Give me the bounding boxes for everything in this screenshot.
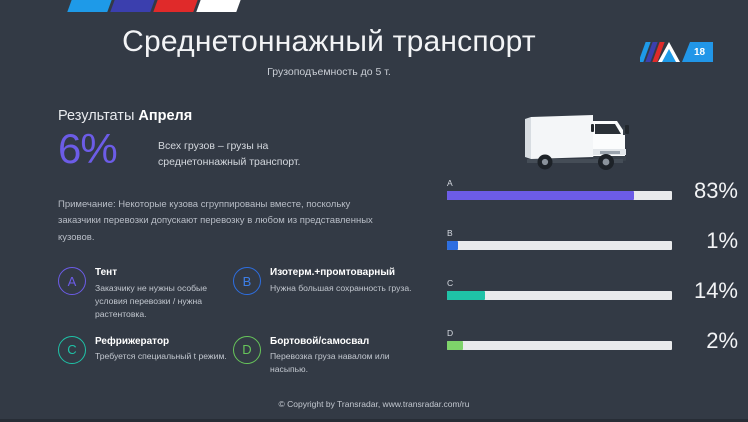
bar-row-c: C 14% xyxy=(447,278,705,328)
legend-text-b: Изотерм.+промтоварный Нужна большая сохр… xyxy=(270,266,412,294)
results-heading: Результаты Апреля xyxy=(58,108,418,124)
bar-row-a: A 83% xyxy=(447,178,705,228)
legend-desc-c: Требуется специальный t режим. xyxy=(95,350,227,363)
slide-canvas: Среднетоннажный транспорт Грузоподъемнос… xyxy=(0,0,748,422)
legend-title-d: Бортовой/самосвал xyxy=(270,336,415,349)
bar-fill-a xyxy=(447,191,634,200)
corner-logo-stripe-3 xyxy=(153,0,202,12)
left-panel: Результаты Апреля 6% Всех грузов – грузы… xyxy=(58,108,418,376)
legend-title-c: Рефрижератор xyxy=(95,336,227,349)
legend-grid: A Тент Заказчику не нужны особые условия… xyxy=(58,266,418,375)
bar-label-d: D xyxy=(447,328,705,338)
bar-track-a: 83% xyxy=(447,191,672,200)
badge-a-mark-icon xyxy=(658,42,680,62)
legend-desc-d: Перевозка груза навалом или насыпью. xyxy=(270,350,415,376)
truck-photo xyxy=(505,105,680,177)
legend-item-a[interactable]: A Тент Заказчику не нужны особые условия… xyxy=(58,266,233,320)
page-subtitle: Грузоподъемность до 5 т. xyxy=(0,66,748,78)
note-text: Примечание: Некоторые кузова сгруппирова… xyxy=(58,197,378,247)
legend-text-c: Рефрижератор Требуется специальный t реж… xyxy=(95,335,227,363)
legend-badge-b: B xyxy=(233,267,261,295)
bar-label-b: B xyxy=(447,228,705,238)
legend-badge-a: A xyxy=(58,267,86,295)
legend-title-b: Изотерм.+промтоварный xyxy=(270,267,412,280)
slide-header: Среднетоннажный транспорт Грузоподъемнос… xyxy=(0,24,748,90)
legend-item-d[interactable]: D Бортовой/самосвал Перевозка груза нава… xyxy=(233,335,423,376)
bar-value-c: 14% xyxy=(674,278,738,304)
badge-stripes xyxy=(640,42,682,62)
bar-label-a: A xyxy=(447,178,705,188)
footer-copyright: © Copyright by Transradar, www.transrada… xyxy=(0,399,748,409)
headline-description: Всех грузов – грузы на среднетоннажный т… xyxy=(158,132,358,171)
corner-logo xyxy=(72,0,241,12)
legend-badge-d: D xyxy=(233,336,261,364)
results-prefix: Результаты xyxy=(58,108,138,124)
legend-desc-b: Нужна большая сохранность груза. xyxy=(270,282,412,295)
legend-item-b[interactable]: B Изотерм.+промтоварный Нужна большая со… xyxy=(233,266,423,320)
headline-percentage: 6% xyxy=(58,128,158,170)
results-month: Апреля xyxy=(138,108,192,124)
bar-fill-c xyxy=(447,291,485,300)
legend-badge-c: C xyxy=(58,336,86,364)
legend-desc-a: Заказчику не нужны особые условия перево… xyxy=(95,282,233,321)
bar-chart: A 83% B 1% C 14% D 2% xyxy=(447,178,705,378)
badge-number: 18 xyxy=(682,42,713,62)
bar-row-b: B 1% xyxy=(447,228,705,278)
legend-item-c[interactable]: C Рефрижератор Требуется специальный t р… xyxy=(58,335,233,376)
bar-fill-b xyxy=(447,241,458,250)
bar-label-c: C xyxy=(447,278,705,288)
truck-icon xyxy=(505,105,680,177)
bar-value-a: 83% xyxy=(674,178,738,204)
legend-title-a: Тент xyxy=(95,267,233,280)
corner-logo-stripe-1 xyxy=(67,0,116,12)
bar-fill-d xyxy=(447,341,463,350)
stat-row: 6% Всех грузов – грузы на среднетоннажны… xyxy=(58,132,418,171)
corner-logo-stripe-2 xyxy=(110,0,159,12)
corner-logo-stripe-4 xyxy=(196,0,245,12)
page-title: Среднетоннажный транспорт xyxy=(0,24,748,59)
brand-badge-logo: 18 xyxy=(640,42,713,62)
bar-value-b: 1% xyxy=(674,228,738,254)
bar-track-b: 1% xyxy=(447,241,672,250)
bar-value-d: 2% xyxy=(674,328,738,354)
bar-track-d: 2% xyxy=(447,341,672,350)
bar-row-d: D 2% xyxy=(447,328,705,378)
legend-text-d: Бортовой/самосвал Перевозка груза навало… xyxy=(270,335,415,376)
legend-text-a: Тент Заказчику не нужны особые условия п… xyxy=(95,266,233,320)
bar-track-c: 14% xyxy=(447,291,672,300)
